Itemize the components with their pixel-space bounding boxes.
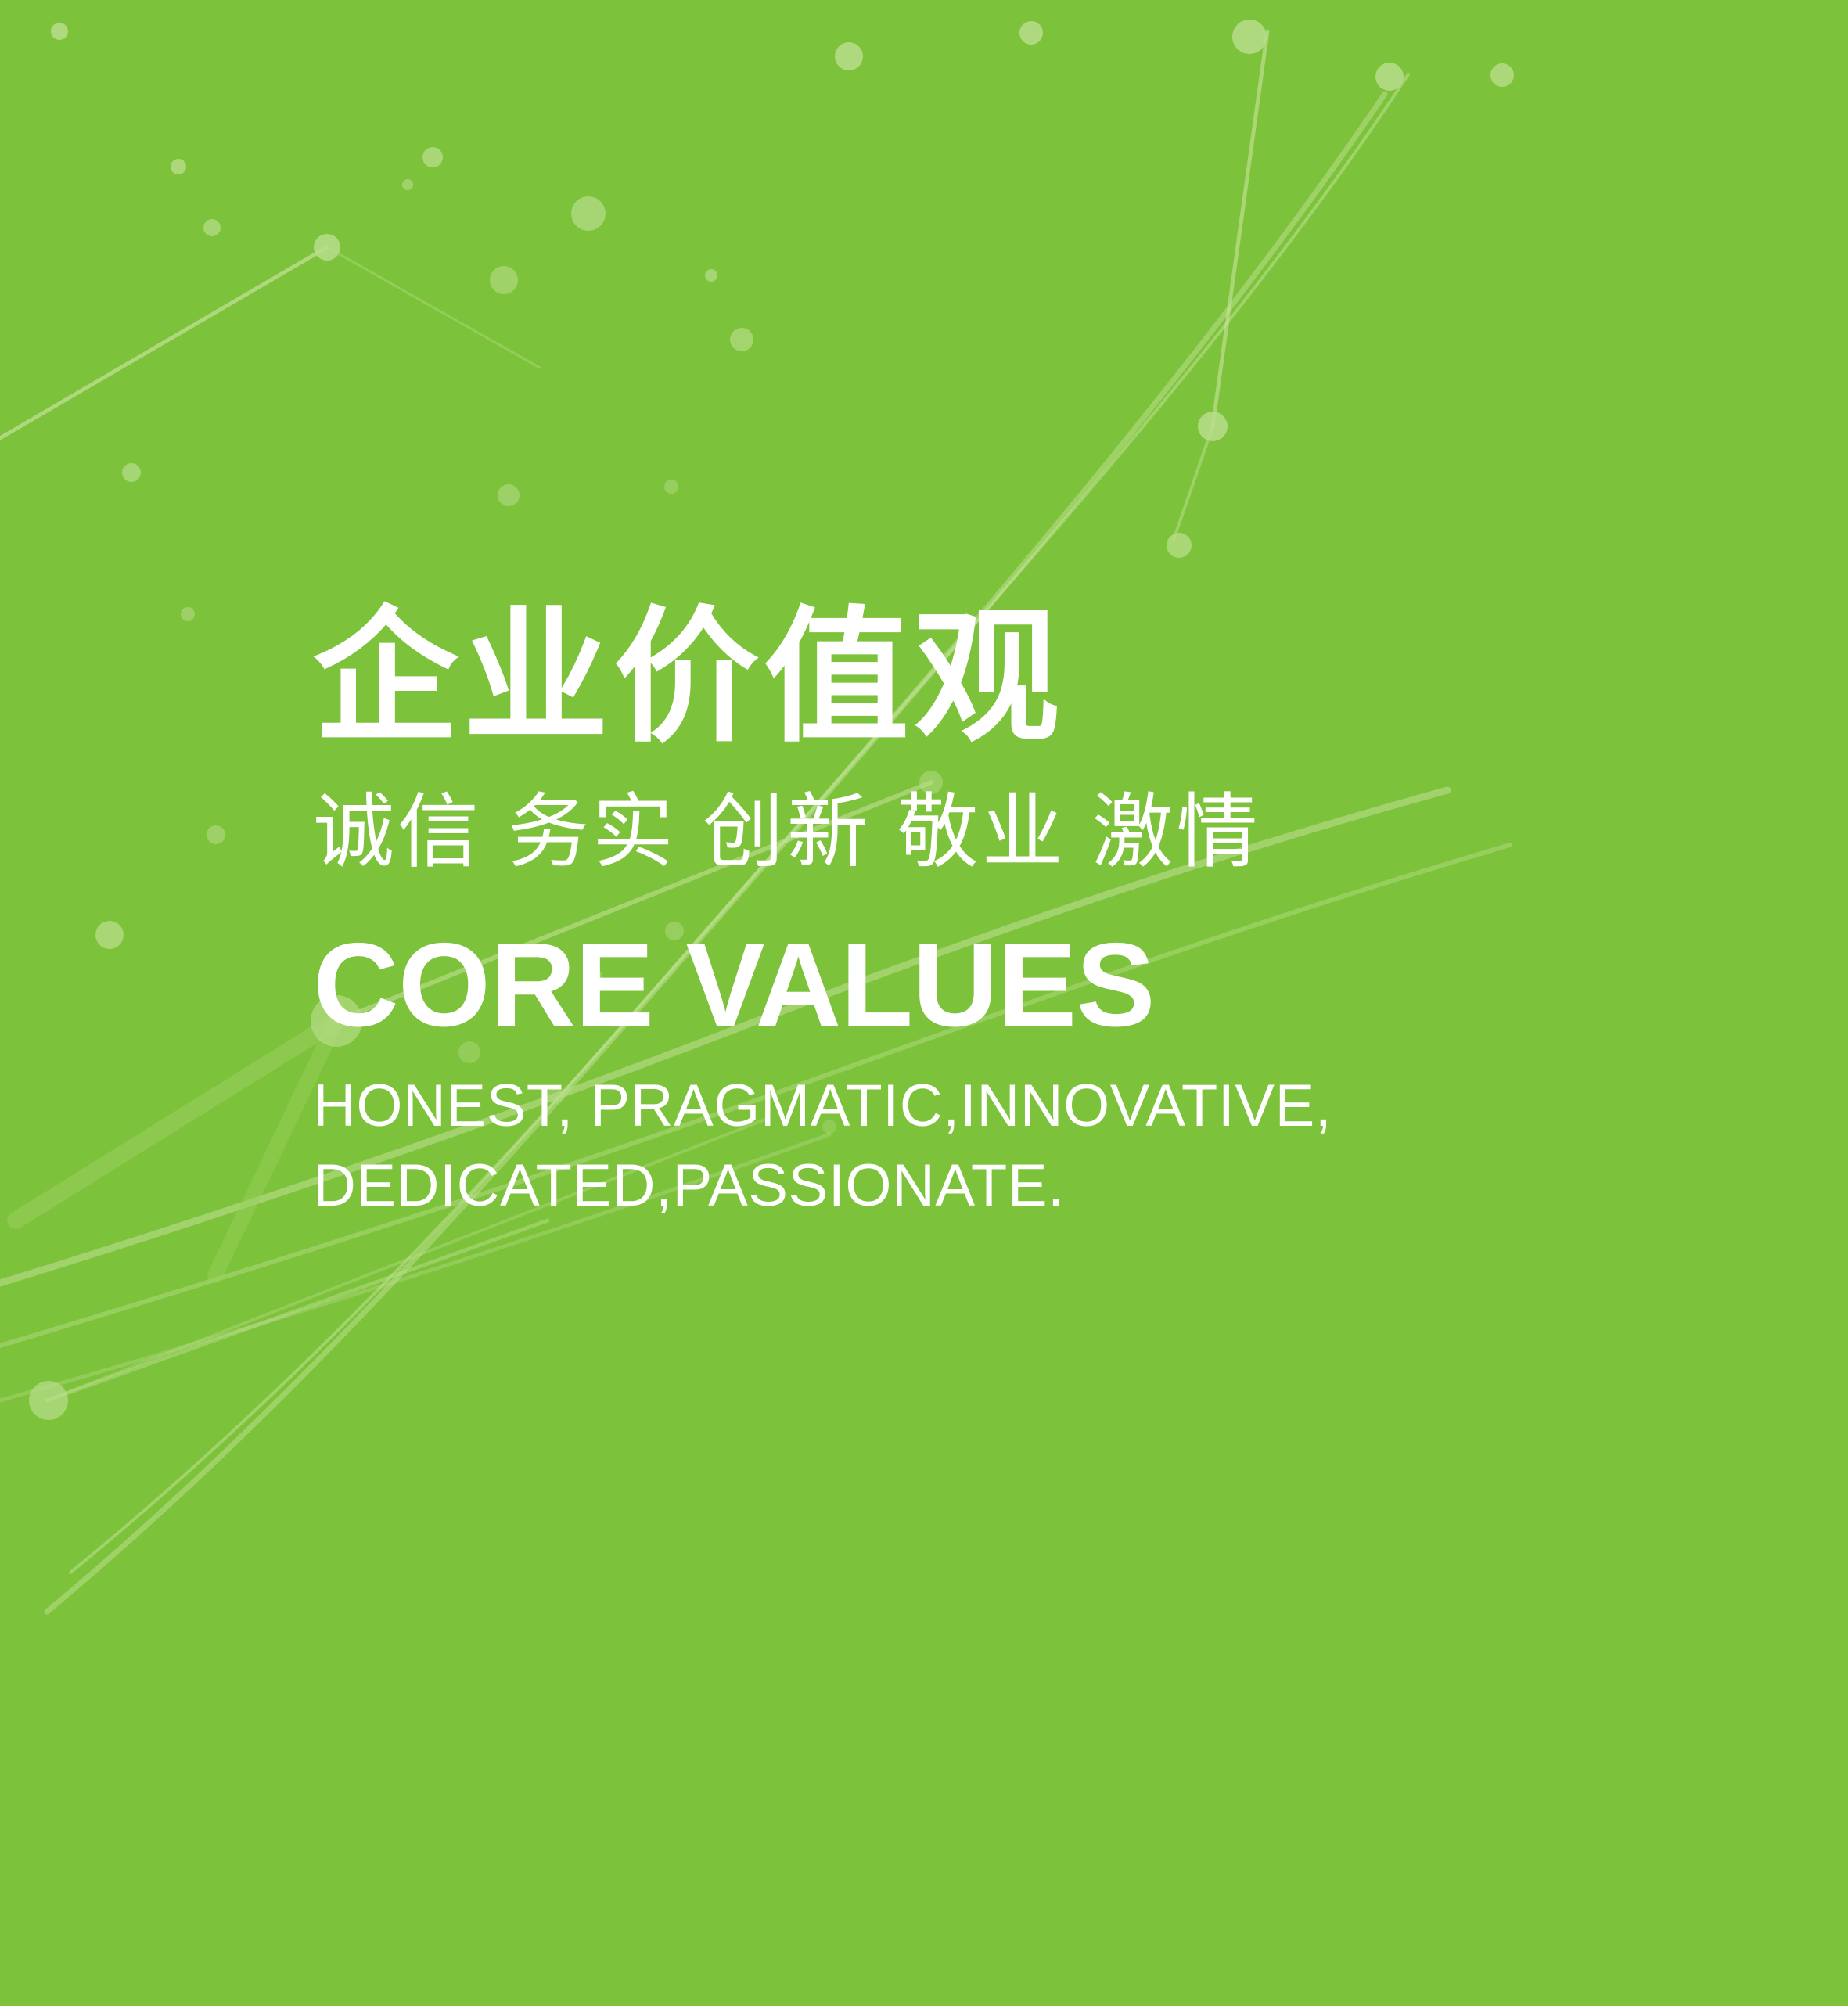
node-dot xyxy=(498,484,520,506)
node-dot xyxy=(422,147,443,167)
node-dot xyxy=(490,266,518,294)
page-title-chinese: 企业价值观 xyxy=(313,601,1682,755)
node-dot xyxy=(203,219,221,236)
node-dot xyxy=(1198,412,1228,441)
node-dot xyxy=(207,825,225,844)
body-line-2: DEDICATED,PASSIONATE. xyxy=(313,1146,1682,1226)
text-content-block: 企业价值观 诚信 务实 创新 敬业 激情 CORE VALUES HONEST,… xyxy=(313,601,1682,1226)
node-dot xyxy=(1490,63,1514,87)
page-title-english: CORE VALUES xyxy=(313,925,1682,1046)
node-dot xyxy=(51,23,68,40)
node-dot xyxy=(571,196,606,231)
node-dot xyxy=(1375,63,1404,91)
node-dot xyxy=(402,179,413,190)
node-dot xyxy=(1232,20,1267,54)
body-english-values: HONEST, PRAGMATIC,INNOVATIVE, DEDICATED,… xyxy=(313,1066,1682,1226)
node-dot xyxy=(95,921,124,949)
node-dot xyxy=(664,480,678,494)
node-dot xyxy=(1167,533,1192,558)
subtitle-chinese-values: 诚信 务实 创新 敬业 激情 xyxy=(313,783,1682,883)
node-dot xyxy=(835,42,863,70)
node-dot xyxy=(1019,21,1043,45)
node-dot xyxy=(171,159,186,174)
node-dot xyxy=(122,463,141,482)
body-line-1: HONEST, PRAGMATIC,INNOVATIVE, xyxy=(313,1066,1682,1146)
node-dot xyxy=(29,1381,68,1420)
node-dot xyxy=(705,269,717,282)
node-dot xyxy=(730,328,753,351)
node-dot xyxy=(314,234,340,261)
core-values-poster: 企业价值观 诚信 务实 创新 敬业 激情 CORE VALUES HONEST,… xyxy=(0,0,1848,2006)
node-dot xyxy=(181,607,195,621)
